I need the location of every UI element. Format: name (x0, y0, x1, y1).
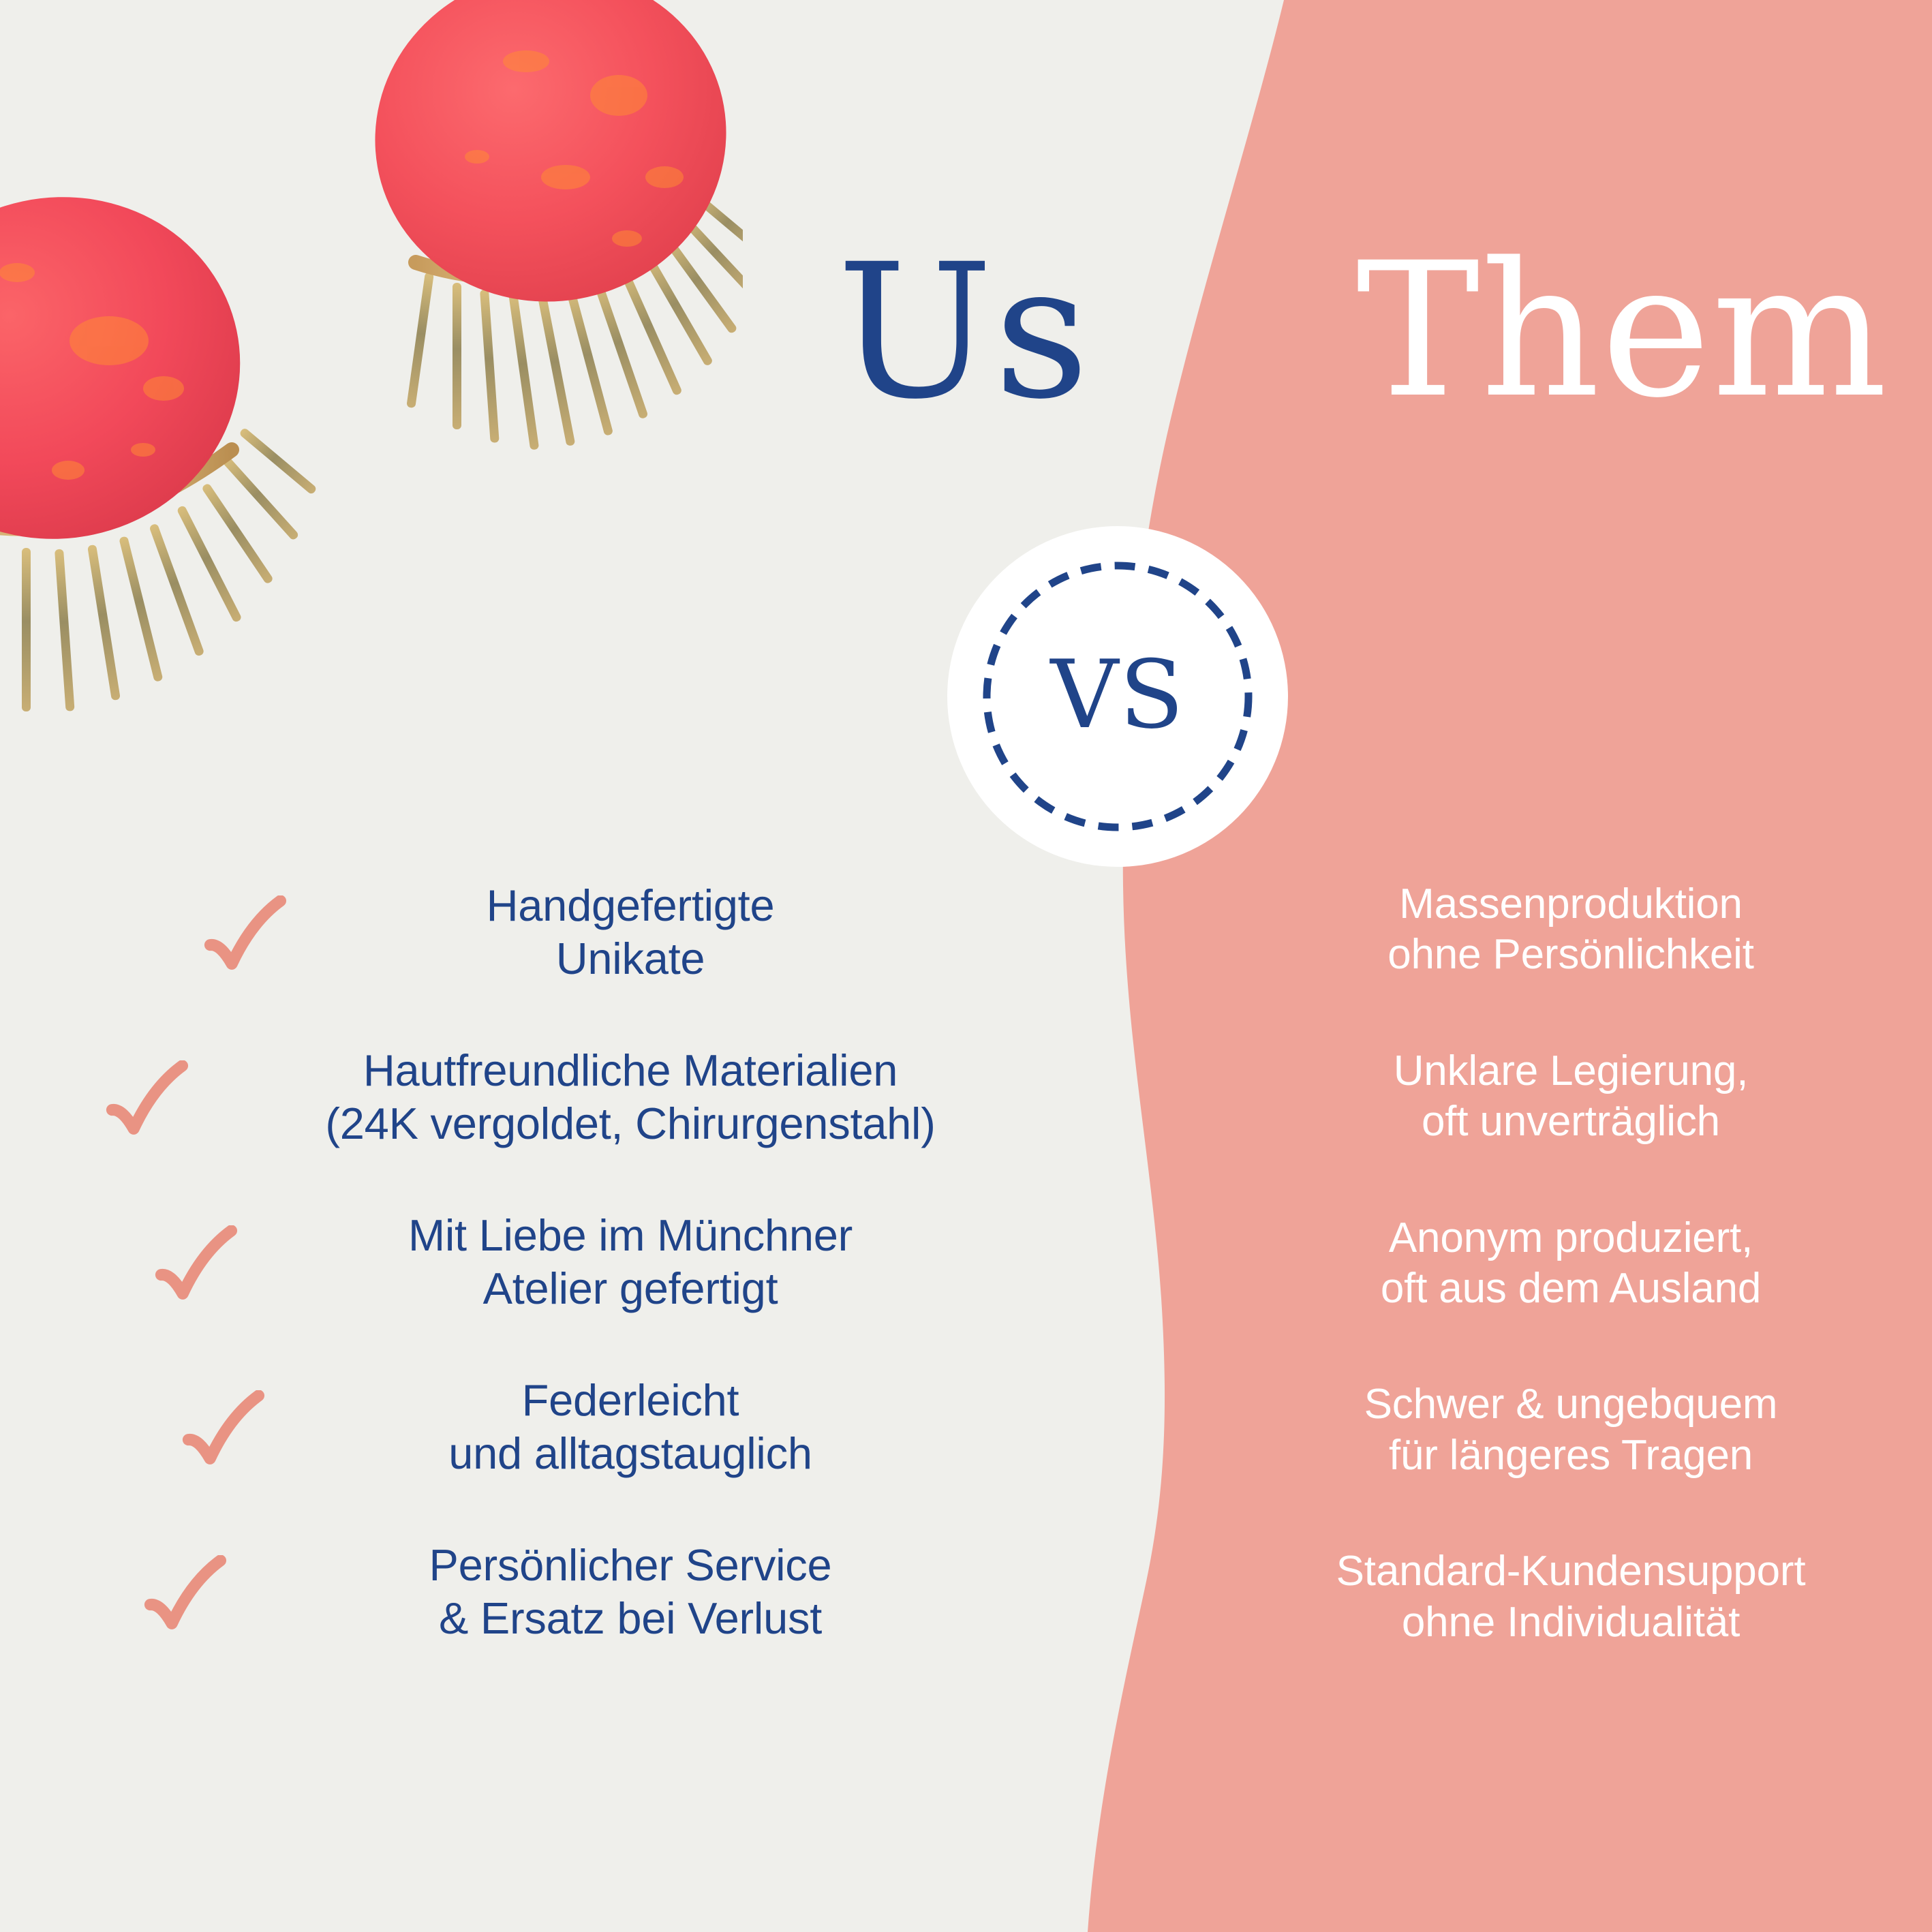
list-item-text: Persönlicher Service & Ersatz bei Verlus… (95, 1539, 1104, 1645)
vs-label: VS (947, 526, 1288, 867)
list-item-line: & Ersatz bei Verlust (157, 1592, 1104, 1645)
list-item-line: (24K vergoldet, Chirurgenstahl) (157, 1097, 1104, 1150)
comparison-infographic: Us Them VS Handgefertigte Unikate Hautfr… (0, 0, 1932, 1932)
list-item-line: ohne Individualität (1220, 1597, 1922, 1648)
list-item-line: Massenproduktion (1220, 879, 1922, 930)
list-item-line: Unklare Legierung, (1220, 1046, 1922, 1097)
list-item-line: Unikate (157, 932, 1104, 985)
heading-us: Us (837, 240, 1090, 425)
list-item-line: Hautfreundliche Materialien (157, 1044, 1104, 1097)
list-item: Hautfreundliche Materialien (24K vergold… (95, 1044, 1104, 1150)
them-drawbacks-list: Massenproduktion ohne Persönlichkeit Unk… (1220, 879, 1922, 1713)
list-item-line: Mit Liebe im Münchner (157, 1209, 1104, 1262)
list-item-line: und alltagstauglich (157, 1427, 1104, 1480)
list-item: Unklare Legierung, oft unverträglich (1220, 1046, 1922, 1148)
list-item-line: oft aus dem Ausland (1220, 1263, 1922, 1314)
list-item: Standard-Kundensupport ohne Individualit… (1220, 1546, 1922, 1648)
list-item-line: ohne Persönlichkeit (1220, 930, 1922, 980)
heading-them: Them (1356, 239, 1888, 424)
list-item-line: Handgefertigte (157, 879, 1104, 932)
list-item-text: Mit Liebe im Münchner Atelier gefertigt (95, 1209, 1104, 1315)
list-item-line: Standard-Kundensupport (1220, 1546, 1922, 1597)
list-item: Mit Liebe im Münchner Atelier gefertigt (95, 1209, 1104, 1315)
list-item-line: für längeres Tragen (1220, 1430, 1922, 1481)
list-item-line: Persönlicher Service (157, 1539, 1104, 1592)
check-icon (138, 1555, 228, 1645)
list-item: Schwer & ungebquem für längeres Tragen (1220, 1379, 1922, 1481)
us-benefits-list: Handgefertigte Unikate Hautfreundliche M… (95, 879, 1104, 1704)
list-item-line: Atelier gefertigt (157, 1262, 1104, 1315)
list-item: Persönlicher Service & Ersatz bei Verlus… (95, 1539, 1104, 1645)
check-icon (176, 1390, 266, 1480)
list-item-text: Hautfreundliche Materialien (24K vergold… (95, 1044, 1104, 1150)
list-item: Massenproduktion ohne Persönlichkeit (1220, 879, 1922, 981)
list-item: Anonym produziert, oft aus dem Ausland (1220, 1213, 1922, 1315)
list-item: Handgefertigte Unikate (95, 879, 1104, 985)
list-item-line: Federleicht (157, 1374, 1104, 1427)
list-item: Federleicht und alltagstauglich (95, 1374, 1104, 1480)
vs-badge: VS (947, 526, 1288, 867)
list-item-line: Anonym produziert, (1220, 1213, 1922, 1263)
list-item-line: Schwer & ungebquem (1220, 1379, 1922, 1430)
check-icon (99, 1060, 189, 1150)
check-icon (149, 1225, 239, 1315)
list-item-line: oft unverträglich (1220, 1097, 1922, 1147)
check-icon (198, 895, 288, 985)
